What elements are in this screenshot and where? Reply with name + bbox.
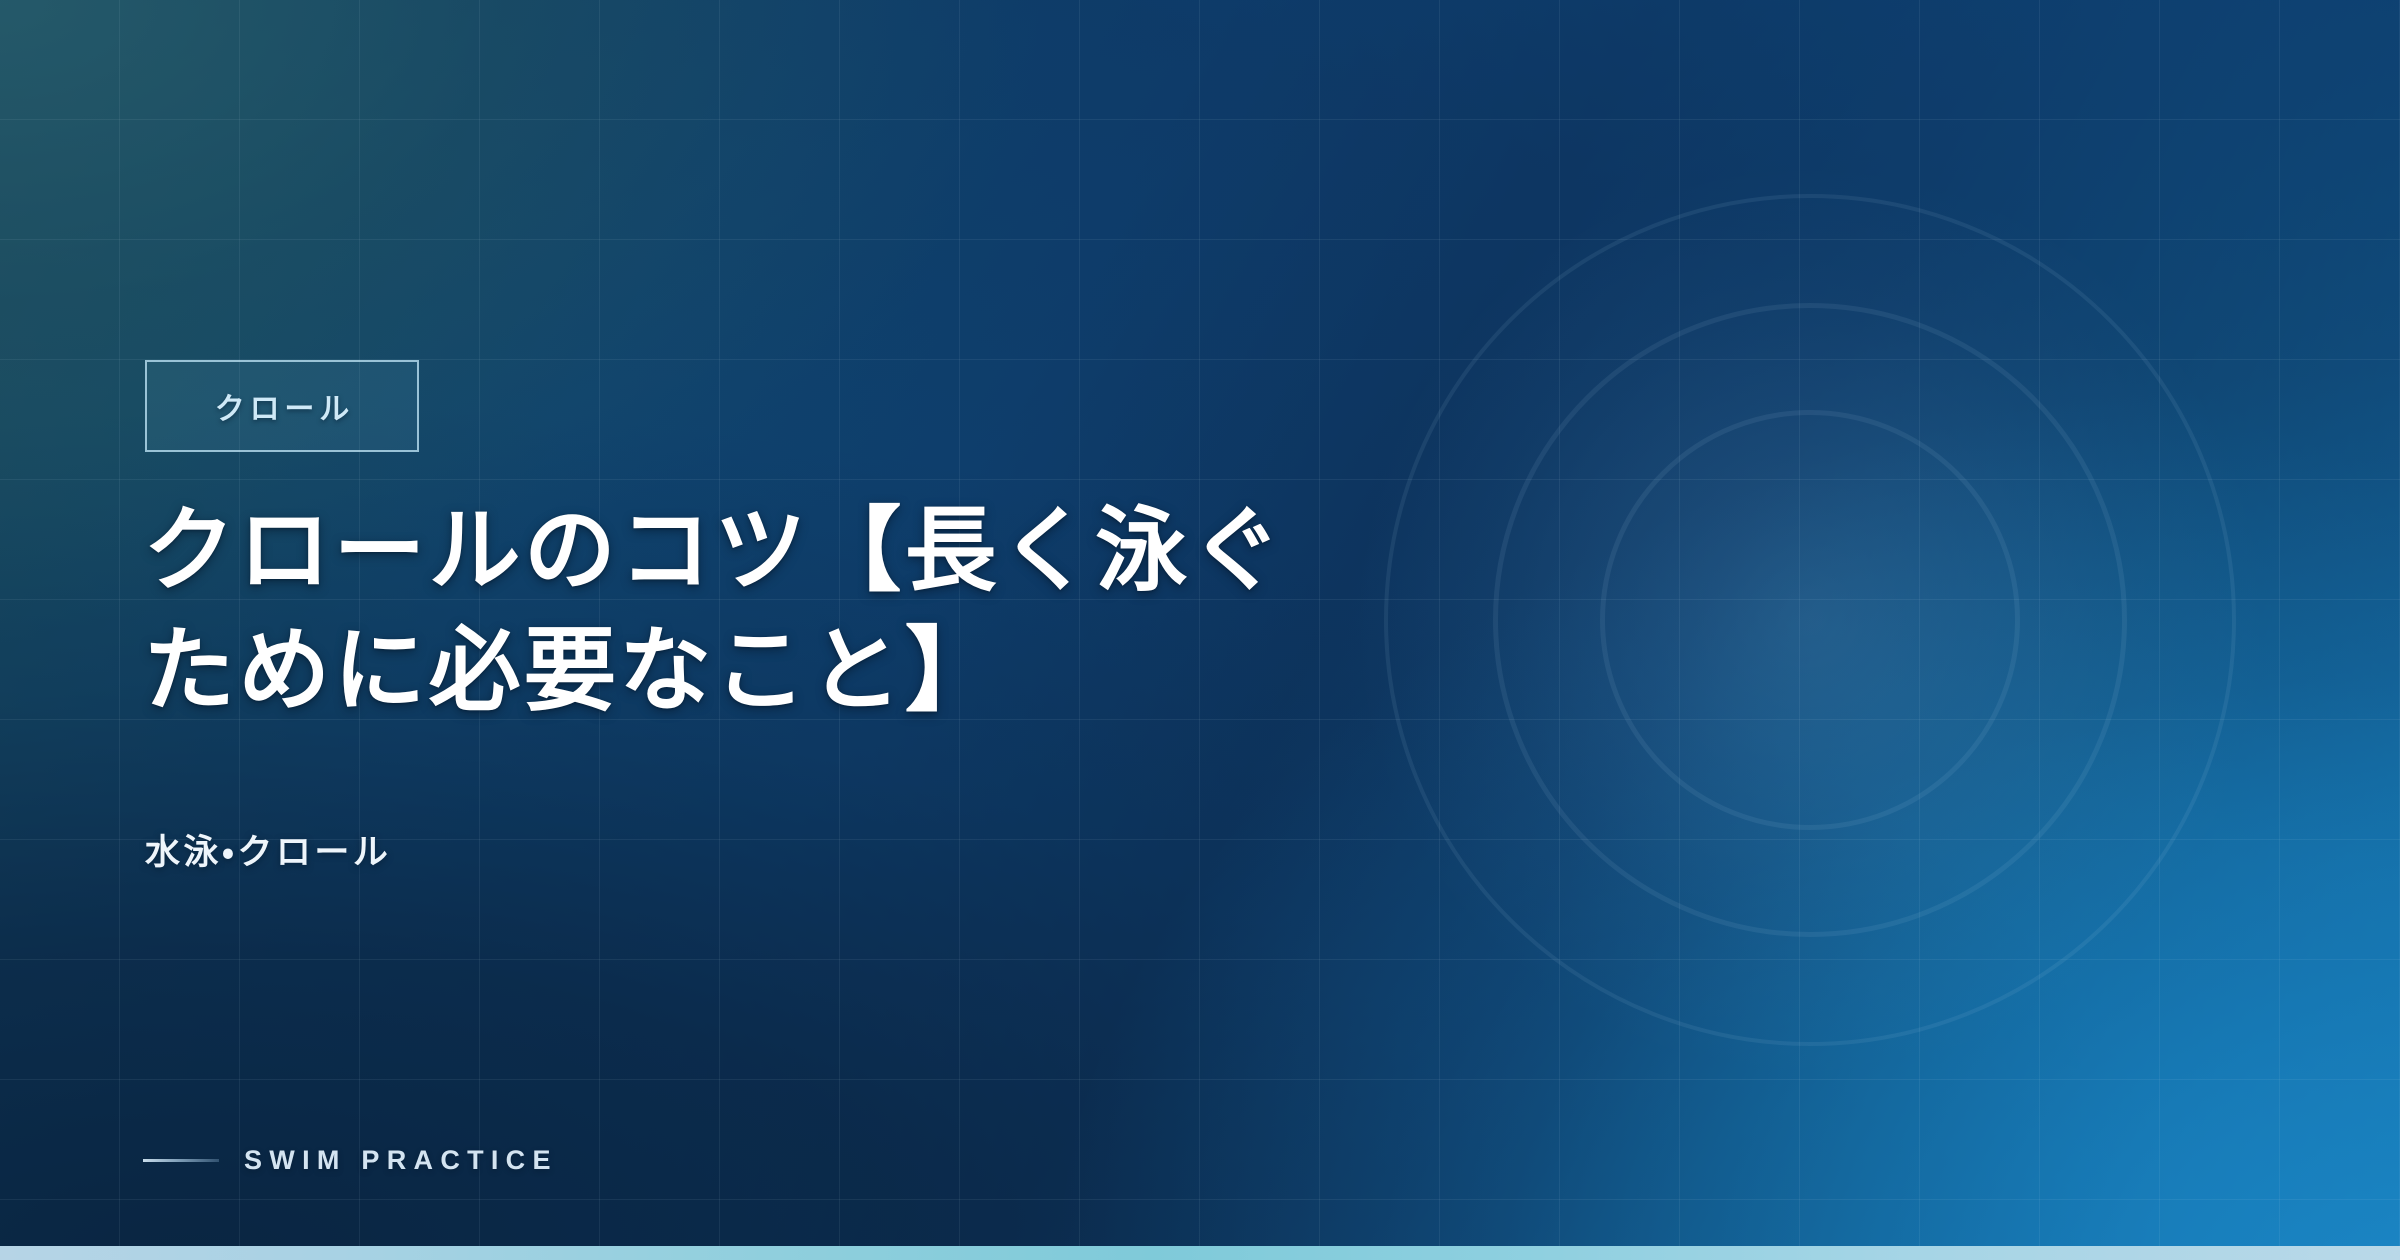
page-title: クロールのコツ【長く泳ぐ ために必要なこと】 — [143, 492, 1563, 731]
footer-brand: SWIM PRACTICE — [143, 1145, 558, 1176]
footer-rule-divider — [143, 1159, 219, 1162]
bottom-accent-bar — [0, 1246, 2400, 1260]
page-title-line-2: ために必要なこと】 — [143, 612, 1563, 732]
footer-brand-label: SWIM PRACTICE — [244, 1145, 558, 1176]
hero-banner: クロール クロールのコツ【長く泳ぐ ために必要なこと】 水泳・クロール SWIM… — [0, 0, 2400, 1260]
hero-content: クロール クロールのコツ【長く泳ぐ ために必要なこと】 水泳・クロール SWIM… — [143, 0, 1643, 1260]
page-subtitle: 水泳・クロール — [145, 824, 391, 875]
category-badge[interactable]: クロール — [145, 360, 419, 452]
category-badge-label: クロール — [210, 384, 354, 428]
page-title-line-1: クロールのコツ【長く泳ぐ — [143, 492, 1563, 612]
